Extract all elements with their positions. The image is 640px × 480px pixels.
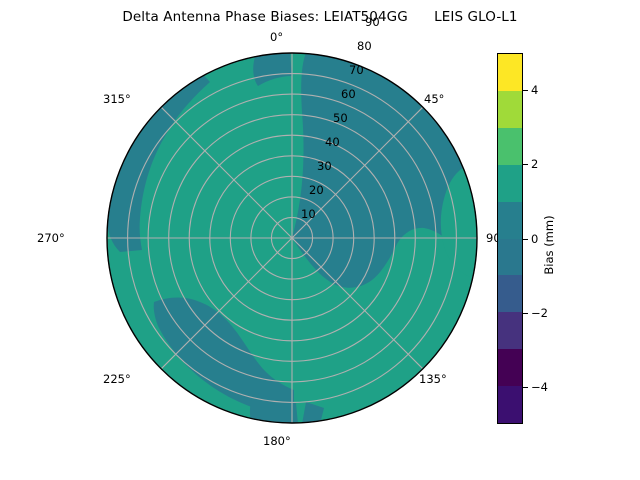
colorbar-band-3 xyxy=(498,275,522,312)
colorbar-band-7 xyxy=(498,128,522,165)
figure-canvas: Delta Antenna Phase Biases: LEIAT504GG L… xyxy=(0,0,640,480)
colorbar-ticklabel-0: 0 xyxy=(531,232,538,246)
colorbar-ticklabel-m2: −2 xyxy=(531,306,548,320)
colorbar-tick-4 xyxy=(523,90,528,91)
colorbar-band-2 xyxy=(498,312,522,349)
page-title: Delta Antenna Phase Biases: LEIAT504GG L… xyxy=(0,9,640,25)
radial-tick-70: 70 xyxy=(349,63,364,77)
polar-grid xyxy=(107,53,477,423)
colorbar-ticklabel-4: 4 xyxy=(531,83,538,97)
colorbar: 4 2 0 −2 −4 xyxy=(497,53,523,424)
colorbar-axis-label: Bias (mm) xyxy=(542,215,556,274)
colorbar-band-1 xyxy=(498,349,522,386)
radial-tick-20: 20 xyxy=(309,183,324,197)
colorbar-band-0 xyxy=(498,386,522,423)
angular-tick-315: 315° xyxy=(103,92,131,106)
colorbar-ticklabel-2: 2 xyxy=(531,157,538,171)
colorbar-tick-2 xyxy=(523,164,528,165)
colorbar-band-8 xyxy=(498,91,522,128)
angular-tick-45: 45° xyxy=(424,92,444,106)
colorbar-tick-m2 xyxy=(523,313,528,314)
colorbar-tick-0 xyxy=(523,239,528,240)
angular-tick-0: 0° xyxy=(270,30,283,44)
angular-tick-270: 270° xyxy=(37,231,65,245)
radial-tick-60: 60 xyxy=(341,87,356,101)
colorbar-band-4 xyxy=(498,239,522,276)
colorbar-gradient xyxy=(497,53,523,424)
radial-tick-30: 30 xyxy=(317,159,332,173)
angular-tick-135: 135° xyxy=(419,372,447,386)
polar-axes xyxy=(106,52,478,424)
angular-tick-180: 180° xyxy=(263,434,291,448)
colorbar-tick-m4 xyxy=(523,387,528,388)
angular-tick-225: 225° xyxy=(103,372,131,386)
radial-tick-80: 80 xyxy=(357,39,372,53)
radial-tick-50: 50 xyxy=(333,111,348,125)
colorbar-band-9 xyxy=(498,54,522,91)
radial-tick-40: 40 xyxy=(325,135,340,149)
radial-tick-10: 10 xyxy=(301,207,316,221)
colorbar-band-5 xyxy=(498,202,522,239)
colorbar-band-6 xyxy=(498,165,522,202)
radial-tick-90: 90 xyxy=(365,15,380,29)
colorbar-ticklabel-m4: −4 xyxy=(531,380,548,394)
polar-plot: 0° 45° 90 135° 180° 225° 270° 315° 10 20… xyxy=(106,52,478,424)
